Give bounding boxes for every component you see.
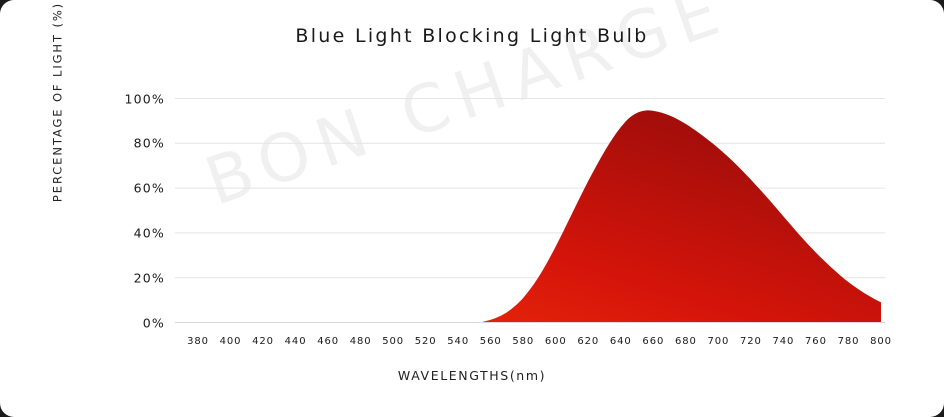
y-axis-tick-label: 40%	[105, 225, 165, 240]
x-axis-label: WAVELENGTHS(nm)	[0, 368, 944, 383]
x-axis-tick-label: 500	[382, 336, 404, 347]
x-axis-tick-label: 540	[447, 336, 469, 347]
x-axis-tick-label: 800	[870, 336, 892, 347]
y-axis-tick-label: 0%	[105, 315, 165, 330]
x-axis-tick-label: 440	[285, 336, 307, 347]
x-axis-tick-label: 380	[187, 336, 209, 347]
x-axis-tick-label: 640	[610, 336, 632, 347]
x-axis-tick-label: 700	[707, 336, 729, 347]
x-axis-tick-label: 660	[642, 336, 664, 347]
x-axis-tick-label: 600	[545, 336, 567, 347]
x-axis-tick-label: 460	[317, 336, 339, 347]
y-axis-tick-label: 80%	[105, 136, 165, 151]
y-axis-ticks: 100%80%60%40%20%0%	[105, 0, 165, 417]
chart-card: Blue Light Blocking Light Bulb PERCENTAG…	[0, 0, 944, 417]
y-axis-tick-label: 100%	[105, 91, 165, 106]
y-axis-tick-label: 20%	[105, 270, 165, 285]
x-axis-tick-label: 520	[415, 336, 437, 347]
x-axis-tick-label: 780	[838, 336, 860, 347]
x-axis-tick-label: 400	[220, 336, 242, 347]
x-axis-tick-label: 480	[350, 336, 372, 347]
x-axis-tick-label: 680	[675, 336, 697, 347]
x-axis-tick-label: 420	[252, 336, 274, 347]
y-axis-tick-label: 60%	[105, 181, 165, 196]
x-axis-tick-label: 620	[577, 336, 599, 347]
x-axis-tick-label: 560	[480, 336, 502, 347]
x-axis-tick-label: 720	[740, 336, 762, 347]
x-axis-tick-label: 740	[773, 336, 795, 347]
x-axis-tick-label: 760	[805, 336, 827, 347]
x-axis-tick-label: 580	[512, 336, 534, 347]
spectrum-area	[198, 110, 881, 322]
